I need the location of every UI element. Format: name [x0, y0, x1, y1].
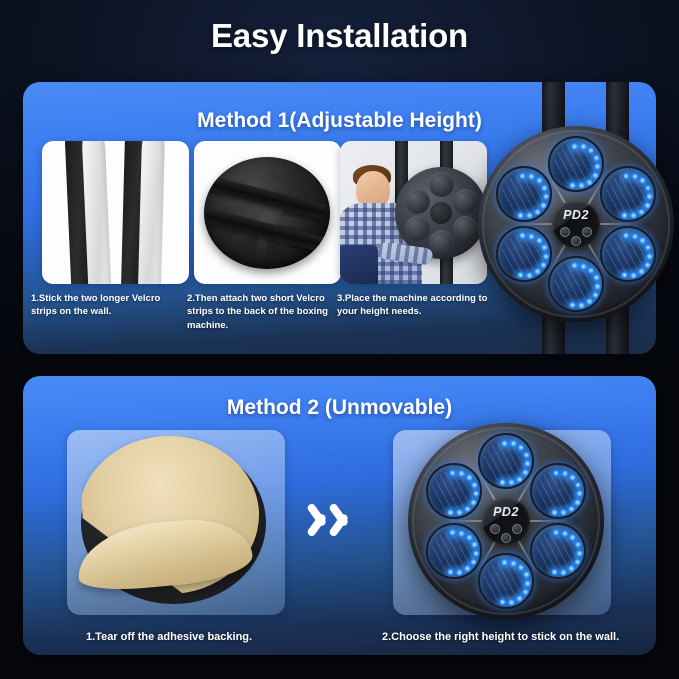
led-indicator — [594, 283, 601, 290]
led-indicator — [540, 262, 547, 269]
led-indicator — [523, 452, 530, 459]
double-chevron-right-icon — [302, 492, 378, 548]
led-indicator — [534, 209, 541, 216]
target-pad[interactable] — [530, 463, 586, 519]
led-indicator — [447, 509, 454, 516]
led-indicator — [473, 490, 480, 497]
method-1-step-3-caption: 3.Place the machine according to your he… — [337, 292, 489, 319]
led-indicator — [464, 565, 471, 572]
method-2-step-1-caption: 1.Tear off the adhesive backing. — [86, 630, 346, 646]
led-indicator — [458, 530, 465, 537]
person-overalls — [340, 245, 378, 284]
target-pad[interactable] — [426, 523, 482, 579]
led-indicator — [586, 179, 593, 186]
led-indicator — [568, 565, 575, 572]
led-indicator — [534, 268, 541, 275]
target-pad[interactable] — [426, 463, 482, 519]
target-pad[interactable] — [478, 553, 534, 609]
led-indicator — [543, 253, 550, 260]
led-indicator — [517, 272, 524, 279]
led-indicator — [575, 482, 582, 489]
led-indicator — [578, 302, 585, 309]
led-indicator — [471, 541, 478, 548]
led-indicator — [522, 589, 529, 596]
method-1-step-2-caption: 2.Then attach two short Velcro strips to… — [187, 292, 335, 332]
led-indicator — [639, 237, 646, 244]
led-indicator — [571, 262, 578, 269]
target-pad[interactable] — [530, 523, 586, 579]
led-indicator — [470, 559, 477, 566]
led-indicator — [499, 479, 506, 486]
control-button-2[interactable] — [582, 227, 592, 237]
led-indicator — [588, 267, 595, 274]
infographic-page: Easy Installation Method 1(Adjustable He… — [0, 0, 679, 679]
led-indicator — [644, 202, 651, 209]
led-indicator — [508, 599, 515, 606]
led-indicator — [580, 143, 587, 150]
led-indicator — [540, 202, 547, 209]
led-indicator — [586, 298, 593, 305]
led-indicator — [471, 482, 478, 489]
led-indicator — [592, 292, 599, 299]
led-indicator — [575, 541, 582, 548]
led-indicator — [568, 506, 575, 513]
led-indicator — [646, 193, 653, 200]
led-indicator — [576, 550, 583, 557]
led-indicator — [456, 569, 463, 576]
led-indicator — [574, 499, 581, 506]
led-indicator — [523, 571, 530, 578]
led-indicator — [516, 476, 523, 483]
led-indicator — [519, 173, 526, 180]
led-indicator — [522, 469, 529, 476]
led-indicator — [578, 182, 585, 189]
led-indicator — [517, 212, 524, 219]
led-indicator — [551, 509, 558, 516]
led-indicator — [580, 263, 587, 270]
led-indicator — [524, 580, 531, 587]
method-1-heading: Method 1(Adjustable Height) — [23, 109, 656, 133]
method-2-step-1-image — [67, 430, 285, 615]
led-indicator — [632, 173, 639, 180]
led-indicator — [574, 559, 581, 566]
method-2-heading: Method 2 (Unmovable) — [23, 396, 656, 420]
target-pad[interactable] — [548, 256, 604, 312]
led-indicator — [560, 509, 567, 516]
led-indicator — [510, 560, 517, 567]
led-indicator — [646, 253, 653, 260]
led-indicator — [526, 272, 533, 279]
target-pad[interactable] — [478, 433, 534, 489]
velcro-strip — [121, 141, 167, 284]
led-indicator — [470, 499, 477, 506]
led-indicator — [562, 530, 569, 537]
control-hub[interactable]: PD2 — [482, 497, 530, 545]
target-pad[interactable] — [496, 226, 552, 282]
method-1-step-1-caption: 1.Stick the two longer Velcro strips on … — [31, 292, 183, 319]
boxing-machine-product: PD2 — [478, 126, 674, 322]
control-button-2[interactable] — [512, 524, 522, 534]
led-indicator — [516, 595, 523, 602]
led-indicator — [524, 460, 531, 467]
led-indicator — [630, 272, 637, 279]
led-indicator — [508, 479, 515, 486]
led-indicator — [632, 233, 639, 240]
led-indicator — [569, 534, 576, 541]
led-indicator — [593, 155, 600, 162]
brand-logo: PD2 — [482, 505, 530, 519]
led-indicator — [592, 172, 599, 179]
led-indicator — [594, 163, 601, 170]
led-indicator — [593, 274, 600, 281]
method-1-step-3-image — [340, 141, 487, 284]
brand-logo: PD2 — [552, 208, 600, 222]
led-indicator — [543, 193, 550, 200]
led-indicator — [510, 440, 517, 447]
led-indicator — [526, 212, 533, 219]
led-indicator — [447, 569, 454, 576]
machine-back-disc — [204, 157, 330, 269]
led-indicator — [571, 143, 578, 150]
led-indicator — [621, 212, 628, 219]
led-indicator — [528, 173, 535, 180]
control-button-3[interactable] — [571, 236, 581, 246]
led-indicator — [560, 569, 567, 576]
led-indicator — [645, 244, 652, 251]
boxing-machine-product: PD2 — [408, 423, 604, 619]
led-indicator — [562, 470, 569, 477]
led-indicator — [501, 440, 508, 447]
target-pad[interactable] — [496, 166, 552, 222]
velcro-strip — [64, 141, 113, 284]
led-indicator — [638, 209, 645, 216]
led-indicator — [536, 177, 543, 184]
led-indicator — [499, 599, 506, 606]
method-2-step-2-caption: 2.Choose the right height to stick on th… — [382, 630, 662, 646]
led-indicator — [528, 233, 535, 240]
led-indicator — [519, 232, 526, 239]
led-indicator — [630, 212, 637, 219]
led-indicator — [466, 534, 473, 541]
led-indicator — [536, 237, 543, 244]
target-pad[interactable] — [548, 136, 604, 192]
control-button-3[interactable] — [501, 533, 511, 543]
method-1-step-1-image — [42, 141, 189, 284]
control-button-1[interactable] — [560, 227, 570, 237]
led-indicator — [541, 244, 548, 251]
page-title: Easy Installation — [0, 17, 679, 55]
led-indicator — [518, 564, 525, 571]
led-indicator — [576, 490, 583, 497]
led-indicator — [645, 185, 652, 192]
led-indicator — [466, 474, 473, 481]
led-indicator — [541, 185, 548, 192]
method-1-step-2-image — [194, 141, 341, 284]
control-hub[interactable]: PD2 — [552, 200, 600, 248]
led-indicator — [621, 272, 628, 279]
target-pad[interactable] — [600, 166, 656, 222]
led-indicator — [501, 559, 508, 566]
led-indicator — [464, 506, 471, 513]
led-indicator — [644, 262, 651, 269]
led-indicator — [458, 470, 465, 477]
control-button-1[interactable] — [490, 524, 500, 534]
led-indicator — [569, 182, 576, 189]
led-indicator — [569, 302, 576, 309]
led-indicator — [449, 470, 456, 477]
target-pad[interactable] — [600, 226, 656, 282]
led-indicator — [551, 569, 558, 576]
led-indicator — [473, 550, 480, 557]
led-indicator — [456, 509, 463, 516]
led-indicator — [449, 529, 456, 536]
led-indicator — [638, 268, 645, 275]
